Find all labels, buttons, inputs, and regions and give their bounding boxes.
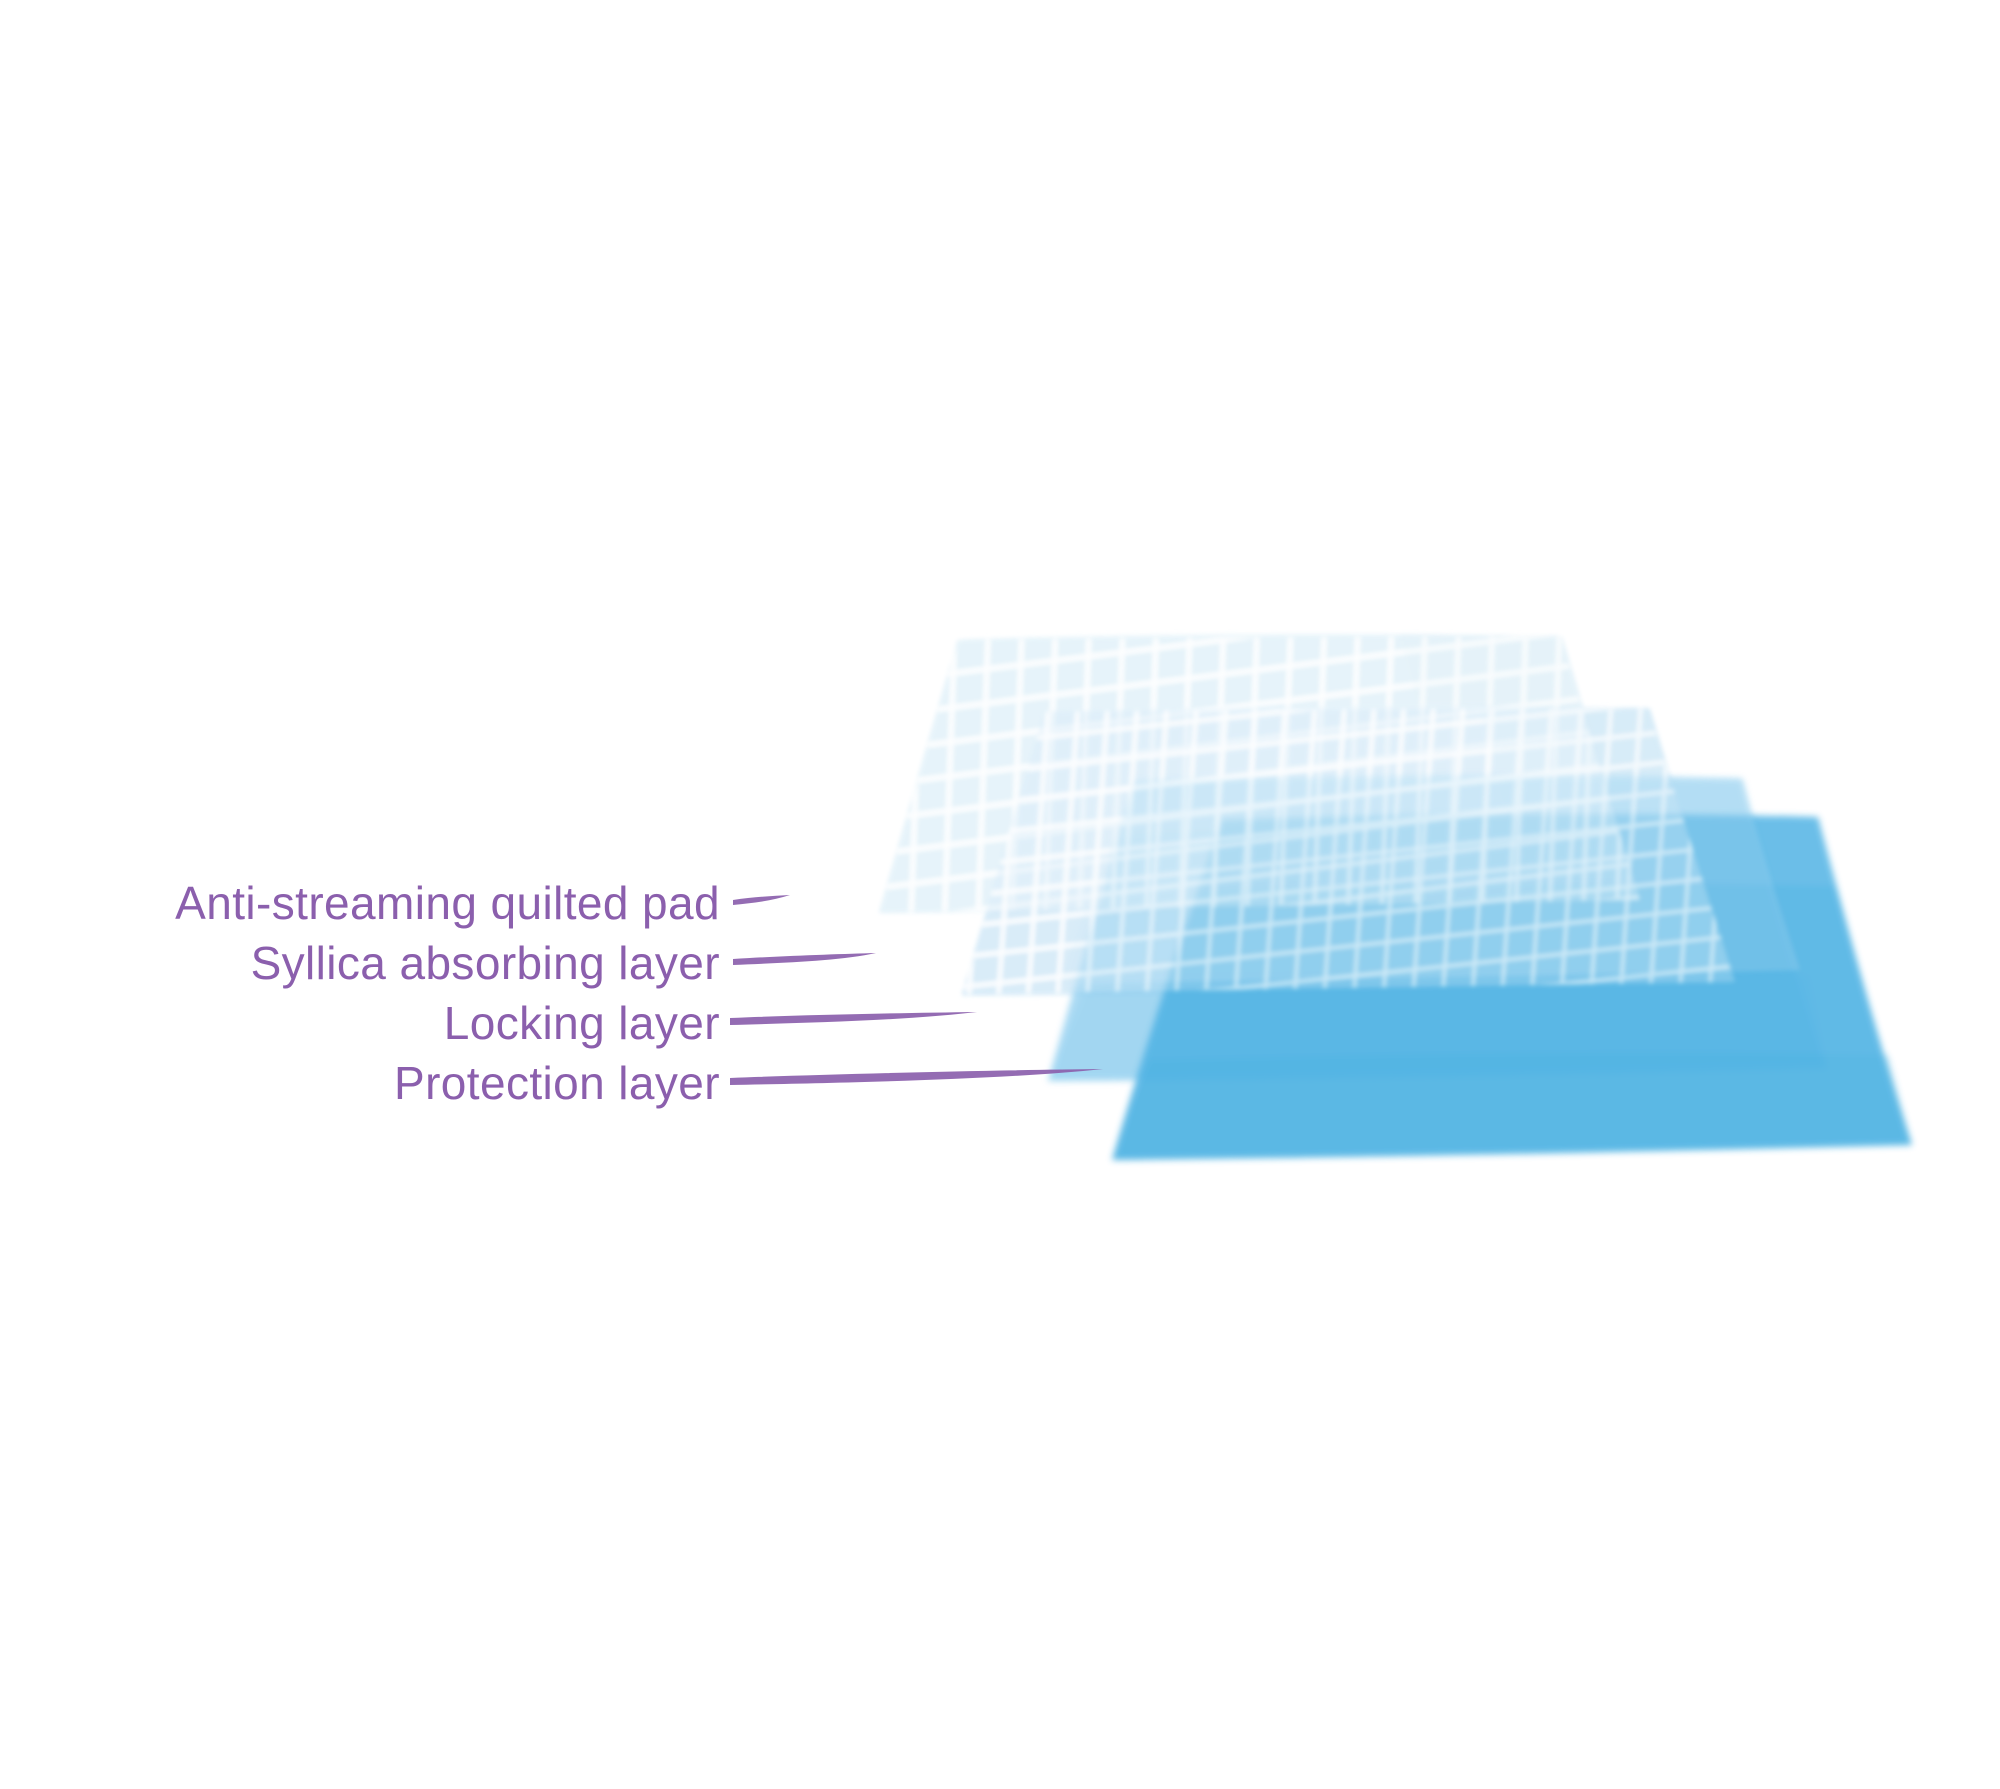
leader-line-3 (730, 1012, 977, 1025)
leader-line-4 (730, 1069, 1103, 1085)
quilt-glaze-top (820, 600, 1820, 1040)
label-syllica-absorbing-layer: Syllica absorbing layer (0, 936, 720, 990)
leader-line-2 (733, 953, 876, 965)
leader-line-1 (733, 895, 790, 905)
label-protection-layer: Protection layer (0, 1056, 720, 1110)
layer-diagram: Anti-streaming quilted pad Syllica absor… (0, 0, 2000, 1789)
label-locking-layer: Locking layer (0, 996, 720, 1050)
label-anti-streaming-quilted-pad: Anti-streaming quilted pad (0, 876, 720, 930)
